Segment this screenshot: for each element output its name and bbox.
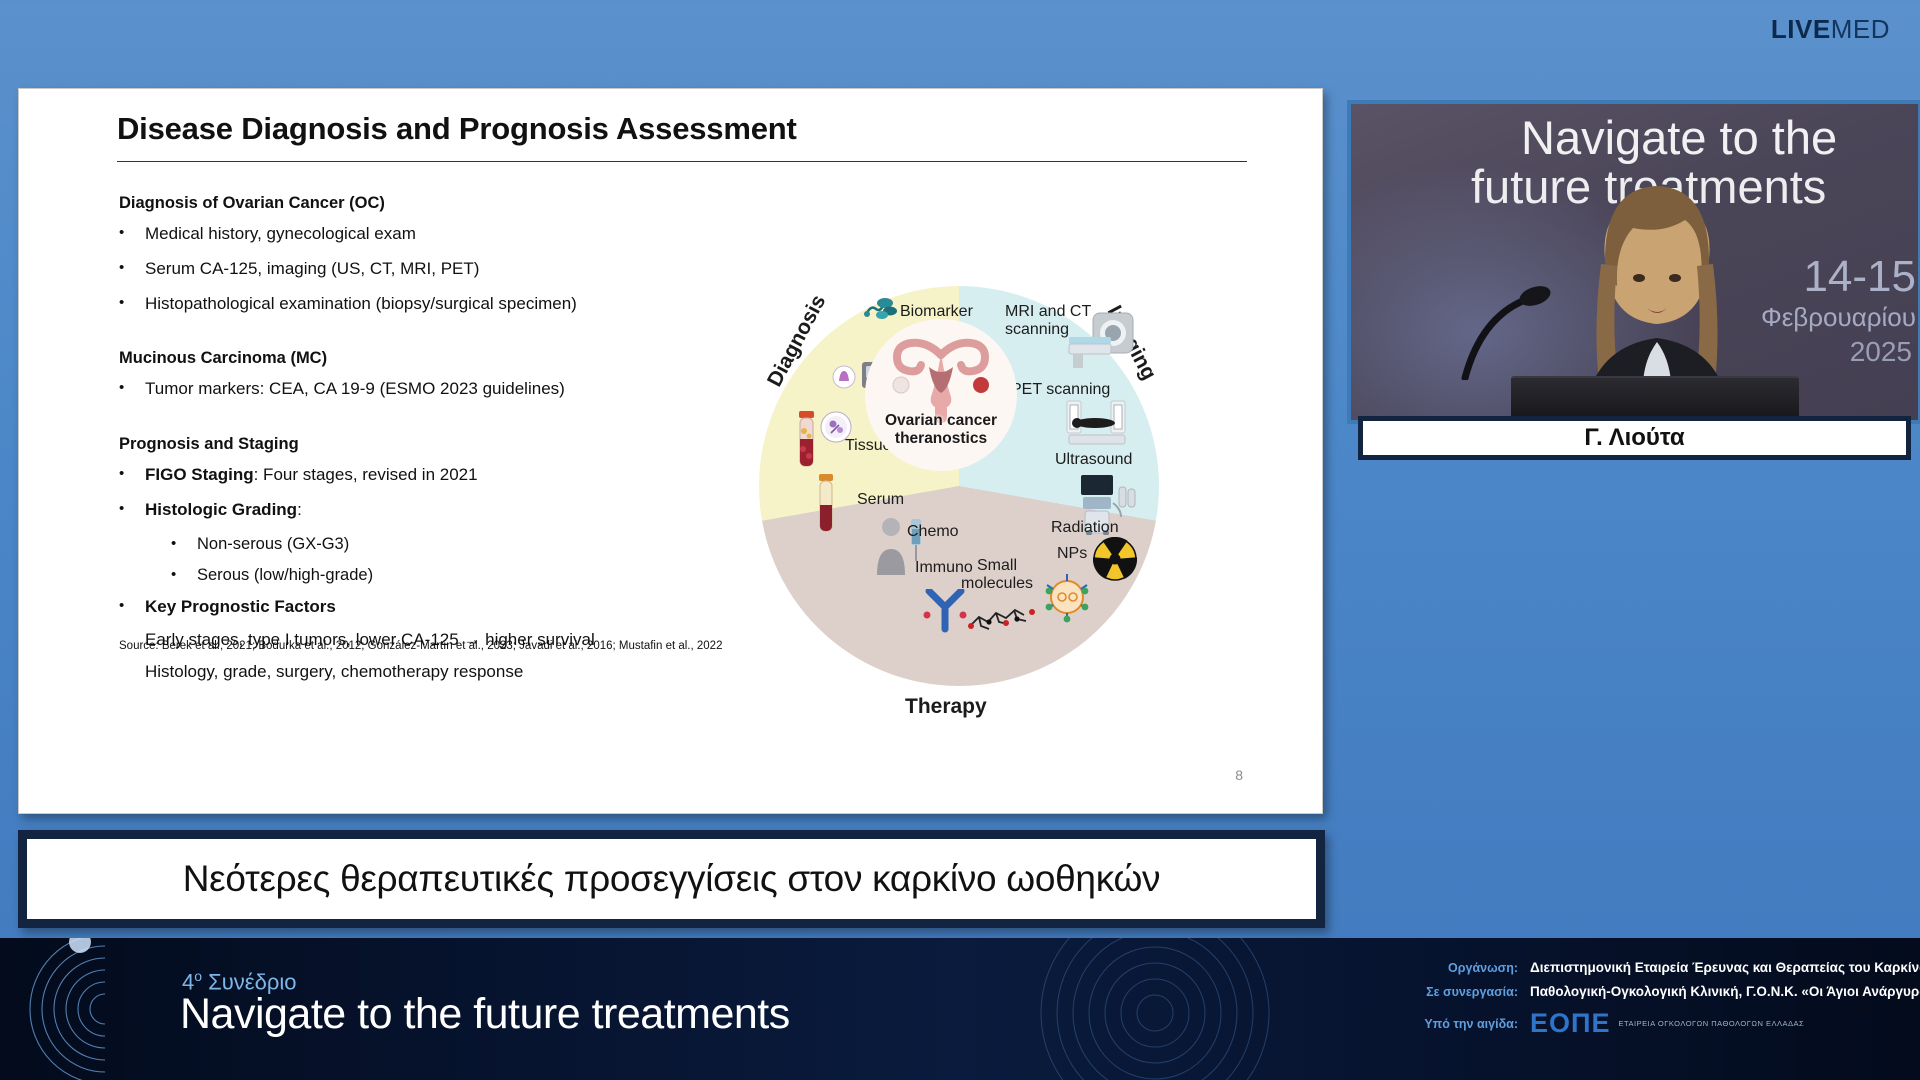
- item-label-chemo: Chemo: [907, 523, 959, 541]
- item-label-serum: Serum: [857, 491, 904, 509]
- sub-bullet-text: Non-serous (GX-G3): [197, 534, 349, 555]
- bullet-dot: •: [171, 534, 197, 555]
- bullet-text: Serum CA-125, imaging (US, CT, MRI, PET): [145, 258, 479, 280]
- bullet-dot: •: [119, 464, 145, 486]
- backdrop-date-line3: 2025: [1850, 336, 1912, 368]
- logo-live-text: LIVE: [1771, 14, 1831, 44]
- speaker-name-text: Γ. Λιούτα: [1584, 424, 1684, 452]
- bullet-item-figo: • FIGO Staging: Four stages, revised in …: [119, 464, 739, 486]
- credit-row: Οργάνωση: Διεπιστημονική Εταιρεία Έρευνα…: [1420, 960, 1900, 975]
- bullet-text: Histologic Grading:: [145, 499, 302, 521]
- bullet-dot: •: [119, 499, 145, 521]
- credit-row-auspices: Υπό την αιγίδα: EOΠE ΕΤΑΙΡΕΙΑ ΟΓΚΟΛΟΓΩΝ …: [1420, 1008, 1900, 1039]
- key-factors-label: Key Prognostic Factors: [145, 597, 336, 616]
- session-title-bar: Νεότερες θεραπευτικές προσεγγίσεις στον …: [18, 830, 1325, 928]
- center-label-line1: Ovarian cancer: [885, 412, 997, 429]
- item-label-biomarker: Biomarker: [900, 303, 973, 321]
- wedge-label-therapy: Therapy: [905, 695, 987, 719]
- eope-logo-subtitle: ΕΤΑΙΡΕΙΑ ΟΓΚΟΛΟΓΩΝ ΠΑΘΟΛΟΓΩΝ ΕΛΛΑΔΑΣ: [1619, 1019, 1805, 1028]
- bullet-item: • Serum CA-125, imaging (US, CT, MRI, PE…: [119, 258, 739, 280]
- session-title-inner: Νεότερες θεραπευτικές προσεγγίσεις στον …: [27, 839, 1316, 919]
- credit-value: Παθολογική-Ογκολογική Κλινική, Γ.Ο.Ν.Κ. …: [1530, 984, 1920, 999]
- bullet-dot: •: [119, 596, 145, 618]
- bullet-item: • Medical history, gynecological exam: [119, 223, 739, 245]
- figo-label: FIGO Staging: [145, 465, 254, 484]
- bullet-text: Histopathological examination (biopsy/su…: [145, 293, 577, 315]
- wheel-center-hub: Ovarian cancer theranostics: [865, 319, 1017, 471]
- figo-rest: : Four stages, revised in 2021: [254, 465, 478, 484]
- bullet-dot: •: [171, 565, 197, 586]
- backdrop-date-line2: Φεβρουαρίου: [1761, 302, 1916, 333]
- spacer: [119, 327, 739, 349]
- pet-scanner-icon: [1065, 397, 1127, 454]
- center-label-line2: theranostics: [885, 430, 997, 447]
- spacer: [119, 413, 739, 435]
- section-heading-diagnosis: Diagnosis of Ovarian Cancer (OC): [119, 194, 739, 213]
- bullet-item-key-factors: • Key Prognostic Factors: [119, 596, 739, 618]
- credit-key: Σε συνεργασία:: [1420, 985, 1530, 999]
- podium: [1511, 376, 1799, 420]
- title-divider: [117, 161, 1247, 162]
- credit-key: Οργάνωση:: [1420, 961, 1530, 975]
- slide-number: 8: [1235, 767, 1243, 783]
- livemed-logo: LIVEMED: [1771, 14, 1890, 45]
- serum-tube-icon: [815, 473, 837, 540]
- bullet-text: Key Prognostic Factors: [145, 596, 336, 618]
- backdrop-date-line1: 14-15: [1803, 252, 1916, 302]
- antibody-icon: [919, 589, 971, 638]
- key-factor-line: Histology, grade, surgery, chemotherapy …: [145, 662, 739, 682]
- section-heading-mucinous: Mucinous Carcinoma (MC): [119, 349, 739, 368]
- slide-content-column: Diagnosis of Ovarian Cancer (OC) • Medic…: [119, 194, 739, 694]
- presentation-slide[interactable]: Disease Diagnosis and Prognosis Assessme…: [18, 88, 1323, 814]
- item-label-mri-ct-scanning: MRI and CT scanning: [1005, 303, 1109, 338]
- microphone-icon: [1461, 270, 1557, 380]
- session-title-text: Νεότερες θεραπευτικές προσεγγίσεις στον …: [183, 858, 1161, 900]
- sub-bullet-item: • Serous (low/high-grade): [171, 565, 739, 586]
- item-label-ultrasound: Ultrasound: [1055, 451, 1132, 469]
- item-label-pet-scanning: PET scanning: [1011, 381, 1110, 399]
- center-label: Ovarian cancer theranostics: [885, 412, 997, 471]
- credit-key: Υπό την αιγίδα:: [1420, 1017, 1530, 1031]
- conference-ordinal-sup: ο: [194, 968, 202, 984]
- section-heading-prognosis: Prognosis and Staging: [119, 435, 739, 454]
- bullet-dot: •: [119, 258, 145, 280]
- bullet-item: • Tumor markers: CEA, CA 19-9 (ESMO 2023…: [119, 378, 739, 400]
- speaker-nameplate: Γ. Λιούτα: [1358, 416, 1911, 460]
- credits-block: Οργάνωση: Διεπιστημονική Εταιρεία Έρευνα…: [1420, 960, 1900, 1048]
- grading-rest: :: [297, 500, 302, 519]
- conference-title: Navigate to the future treatments: [180, 990, 790, 1039]
- banner-ripple-decoration: [1030, 938, 1280, 1080]
- bullet-text: Medical history, gynecological exam: [145, 223, 416, 245]
- bullet-dot: •: [119, 223, 145, 245]
- slide-title: Disease Diagnosis and Prognosis Assessme…: [117, 111, 797, 147]
- eope-logo: EOΠE ΕΤΑΙΡΕΙΑ ΟΓΚΟΛΟΓΩΝ ΠΑΘΟΛΟΓΩΝ ΕΛΛΑΔΑ…: [1530, 1008, 1804, 1039]
- item-label-radiation: Radiation: [1051, 519, 1119, 537]
- bullet-item-grading: • Histologic Grading:: [119, 499, 739, 521]
- protein-biomarker-icon: [861, 293, 901, 332]
- bullet-text: Tumor markers: CEA, CA 19-9 (ESMO 2023 g…: [145, 378, 565, 400]
- fingerprint-logo-icon: [20, 938, 190, 1080]
- item-label-small-molecules: Small molecules: [953, 557, 1041, 592]
- bullet-dot: •: [119, 378, 145, 400]
- video-backdrop: Navigate to the future treatments 14-15 …: [1351, 104, 1918, 420]
- nanoparticle-icon: [1039, 569, 1095, 630]
- source-citation: Source: Berek et al., 2021; Bodurka et a…: [119, 640, 722, 652]
- nameplate-inner: Γ. Λιούτα: [1363, 421, 1906, 455]
- eope-logo-mark: EOΠE: [1530, 1008, 1611, 1039]
- conference-banner: 4ο Συνέδριο Navigate to the future treat…: [0, 938, 1920, 1080]
- item-label-nps: NPs: [1057, 545, 1087, 563]
- credit-value: Διεπιστημονική Εταιρεία Έρευνας και Θερα…: [1530, 960, 1920, 975]
- radiation-hazard-icon: [1093, 537, 1137, 586]
- theranostics-wheel-diagram: Diagnosis Imaging Therapy: [737, 201, 1187, 701]
- sub-bullet-item: • Non-serous (GX-G3): [171, 534, 739, 555]
- sub-bullet-text: Serous (low/high-grade): [197, 565, 373, 586]
- small-molecule-icon: [965, 597, 1039, 642]
- grading-label: Histologic Grading: [145, 500, 297, 519]
- credit-row: Σε συνεργασία: Παθολογική-Ογκολογική Κλι…: [1420, 984, 1900, 999]
- speaker-video[interactable]: Navigate to the future treatments 14-15 …: [1347, 100, 1920, 424]
- bullet-item: • Histopathological examination (biopsy/…: [119, 293, 739, 315]
- bullet-text: FIGO Staging: Four stages, revised in 20…: [145, 464, 478, 486]
- logo-med-text: MED: [1831, 14, 1890, 44]
- bullet-dot: •: [119, 293, 145, 315]
